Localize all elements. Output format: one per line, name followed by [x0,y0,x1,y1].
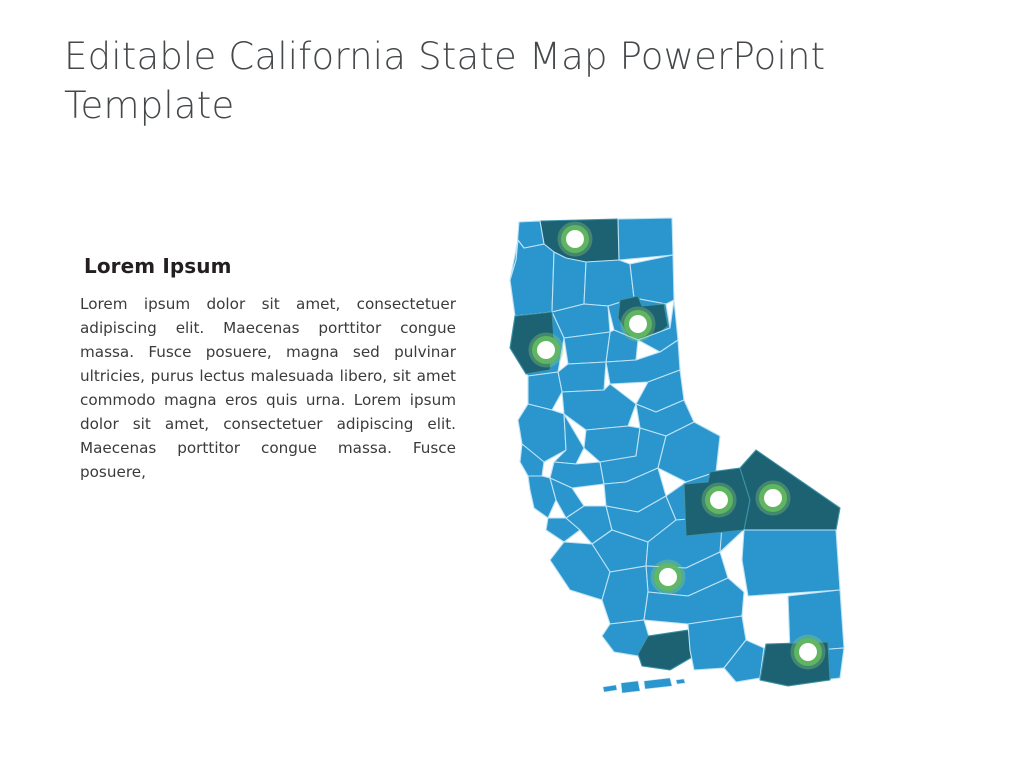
county-sanluisobispo[interactable] [602,566,648,624]
map-marker-inyo[interactable] [706,487,732,513]
island-santa-cruz [644,678,672,689]
content-heading: Lorem Ipsum [84,254,456,278]
county-riverside[interactable] [742,530,840,596]
county-trinity[interactable] [552,252,586,312]
map-marker-ventura[interactable] [655,564,681,590]
california-map [488,200,908,700]
map-marker-plumas[interactable] [625,311,651,337]
county-lake[interactable] [528,372,562,410]
map-marker-siskiyou[interactable] [562,226,588,252]
page-title: Editable California State Map PowerPoint… [64,32,864,130]
california-map-svg [488,200,908,700]
county-modoc[interactable] [618,218,673,260]
map-marker-san-bernardino[interactable] [760,485,786,511]
map-marker-mendocino[interactable] [533,337,559,363]
county-glenn[interactable] [564,332,610,364]
content-panel: Lorem Ipsum Lorem ipsum dolor sit amet, … [80,254,456,484]
island-anacapa [676,679,685,684]
map-marker-san-diego[interactable] [795,639,821,665]
island-san-miguel [603,685,617,692]
island-santa-rosa [621,681,640,693]
county-colusa[interactable] [558,362,606,392]
county-sanbernardino-hl[interactable] [740,450,840,530]
content-body-text: Lorem ipsum dolor sit amet, consectetuer… [80,292,456,484]
